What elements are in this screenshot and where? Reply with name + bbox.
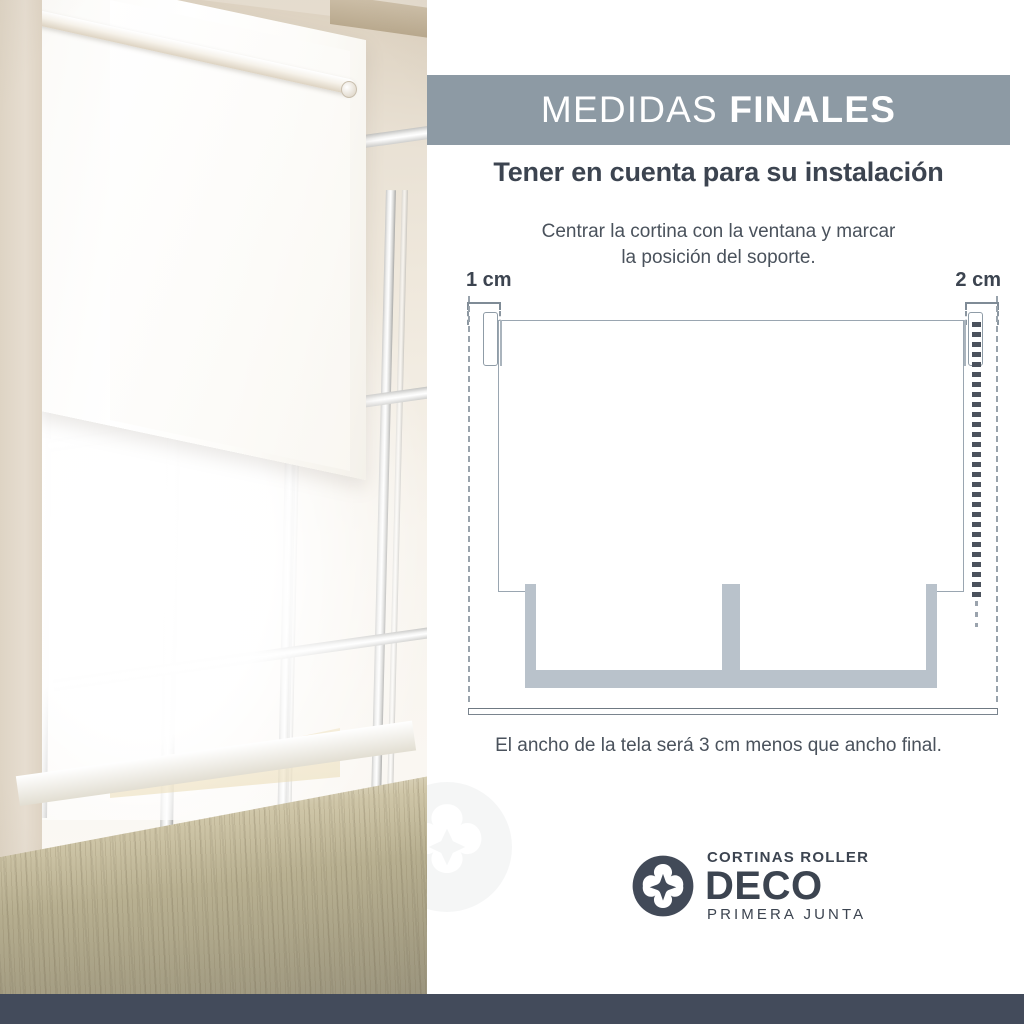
installation-diagram: 1 cm 2 cm xyxy=(453,262,1013,742)
right-guide-line xyxy=(996,296,998,702)
bead-chain-tail-icon xyxy=(975,601,978,627)
content-panel: MEDIDAS FINALES Tener en cuenta para su … xyxy=(427,0,1024,994)
page-title-bold: FINALES xyxy=(729,89,896,130)
bracket-stem-left xyxy=(500,320,502,366)
logo-watermark-icon xyxy=(427,782,512,912)
footer-bar xyxy=(0,994,1024,1024)
logo-wordmark: CORTINAS ROLLER DECO PRIMERA JUNTA xyxy=(707,850,869,922)
page-subtitle: Tener en cuenta para su instalación xyxy=(427,157,1010,188)
window-pane-left xyxy=(536,584,722,670)
overall-width-measure-line xyxy=(468,708,998,715)
window-pane-right xyxy=(740,584,926,670)
instruction-line-1: Centrar la cortina con la ventana y marc… xyxy=(427,219,1010,245)
page-title-light: MEDIDAS xyxy=(541,89,718,130)
right-dimension-label: 2 cm xyxy=(955,269,1001,292)
mounting-bracket-left-icon xyxy=(483,312,498,366)
brand-logo: CORTINAS ROLLER DECO PRIMERA JUNTA xyxy=(632,850,869,922)
logo-top-line: CORTINAS ROLLER xyxy=(707,850,869,865)
roller-blind-fabric xyxy=(498,320,964,592)
footnote-text: El ancho de la tela será 3 cm menos que … xyxy=(427,735,1010,757)
logo-brand-name: DECO xyxy=(705,866,869,906)
installation-photo xyxy=(0,0,427,994)
photo-vignette xyxy=(0,0,427,994)
page-title: MEDIDAS FINALES xyxy=(541,89,896,131)
header-band: MEDIDAS FINALES xyxy=(427,75,1010,145)
left-dimension-label: 1 cm xyxy=(466,269,512,292)
logo-bottom-line: PRIMERA JUNTA xyxy=(707,907,869,922)
left-guide-line xyxy=(468,296,470,702)
poster-canvas: MEDIDAS FINALES Tener en cuenta para su … xyxy=(0,0,1024,1024)
deco-flower-logo-icon xyxy=(632,855,694,917)
window-frame xyxy=(525,584,937,688)
bead-chain-icon xyxy=(972,322,981,600)
bracket-stem-right xyxy=(964,320,966,366)
